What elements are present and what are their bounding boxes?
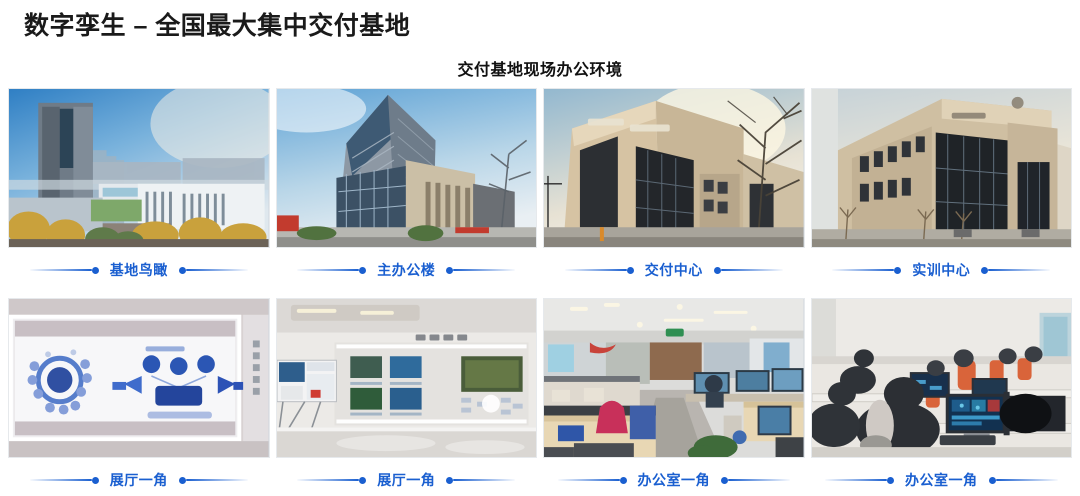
photo-training-center[interactable] <box>811 88 1073 248</box>
photo-caption: 实训中心 <box>811 248 1073 292</box>
photo-main-office-building[interactable] <box>276 88 538 248</box>
caption-dot-left <box>359 477 366 484</box>
caption-dot-left <box>894 267 901 274</box>
gallery-cell[interactable]: 展厅一角 <box>276 298 538 496</box>
slide-page: 数字孪生 – 全国最大集中交付基地 交付基地现场办公环境 <box>0 0 1080 496</box>
caption-dot-right <box>714 267 721 274</box>
gallery-cell[interactable]: 基地鸟瞰 <box>8 88 270 292</box>
photo-exhibition-hall-screens[interactable] <box>276 298 538 458</box>
caption-dot-left <box>627 267 634 274</box>
caption-rule-right <box>179 475 248 485</box>
caption-dot-right <box>981 267 988 274</box>
caption-dot-right <box>179 477 186 484</box>
gallery-cell[interactable]: 交付中心 <box>543 88 805 292</box>
caption-rule-left <box>832 265 901 275</box>
gallery-cell[interactable]: 展厅一角 <box>8 298 270 496</box>
gallery-cell[interactable]: 办公室一角 <box>811 298 1073 496</box>
caption-dot-left <box>620 477 627 484</box>
caption-rule-right <box>179 265 248 275</box>
caption-rule-left <box>825 475 894 485</box>
photo-caption: 办公室一角 <box>811 458 1073 496</box>
caption-dot-left <box>92 267 99 274</box>
caption-rule-right <box>981 265 1050 275</box>
photo-exhibition-hall-wall[interactable] <box>8 298 270 458</box>
caption-text: 办公室一角 <box>901 470 982 490</box>
caption-rule-right <box>446 475 515 485</box>
gallery-cell[interactable]: 主办公楼 <box>276 88 538 292</box>
page-title: 数字孪生 – 全国最大集中交付基地 <box>24 6 410 42</box>
caption-rule-right <box>714 265 783 275</box>
caption-rule-left <box>30 265 99 275</box>
caption-dot-right <box>179 267 186 274</box>
caption-text: 办公室一角 <box>634 470 715 490</box>
caption-text: 基地鸟瞰 <box>106 260 172 280</box>
caption-rule-left <box>297 265 366 275</box>
caption-text: 交付中心 <box>641 260 707 280</box>
photo-open-office[interactable] <box>543 298 805 458</box>
caption-dot-right <box>446 477 453 484</box>
caption-dot-right <box>989 477 996 484</box>
caption-rule-left <box>30 475 99 485</box>
caption-dot-left <box>359 267 366 274</box>
caption-text: 展厅一角 <box>106 470 172 490</box>
caption-rule-left <box>297 475 366 485</box>
caption-dot-right <box>721 477 728 484</box>
photo-caption: 主办公楼 <box>276 248 538 292</box>
photo-caption: 展厅一角 <box>8 458 270 496</box>
gallery-cell[interactable]: 办公室一角 <box>543 298 805 496</box>
photo-workstations[interactable] <box>811 298 1073 458</box>
photo-caption: 办公室一角 <box>543 458 805 496</box>
caption-rule-right <box>989 475 1058 485</box>
photo-base-aerial-view[interactable] <box>8 88 270 248</box>
caption-dot-left <box>887 477 894 484</box>
photo-gallery-grid: 基地鸟瞰 <box>8 88 1072 492</box>
caption-rule-right <box>446 265 515 275</box>
caption-rule-left <box>558 475 627 485</box>
caption-dot-left <box>92 477 99 484</box>
caption-rule-left <box>565 265 634 275</box>
caption-text: 实训中心 <box>908 260 974 280</box>
section-subtitle: 交付基地现场办公环境 <box>0 56 1080 80</box>
photo-caption: 基地鸟瞰 <box>8 248 270 292</box>
caption-text: 展厅一角 <box>373 470 439 490</box>
caption-rule-right <box>721 475 790 485</box>
caption-dot-right <box>446 267 453 274</box>
photo-delivery-center[interactable] <box>543 88 805 248</box>
gallery-cell[interactable]: 实训中心 <box>811 88 1073 292</box>
caption-text: 主办公楼 <box>373 260 439 280</box>
photo-caption: 交付中心 <box>543 248 805 292</box>
photo-caption: 展厅一角 <box>276 458 538 496</box>
